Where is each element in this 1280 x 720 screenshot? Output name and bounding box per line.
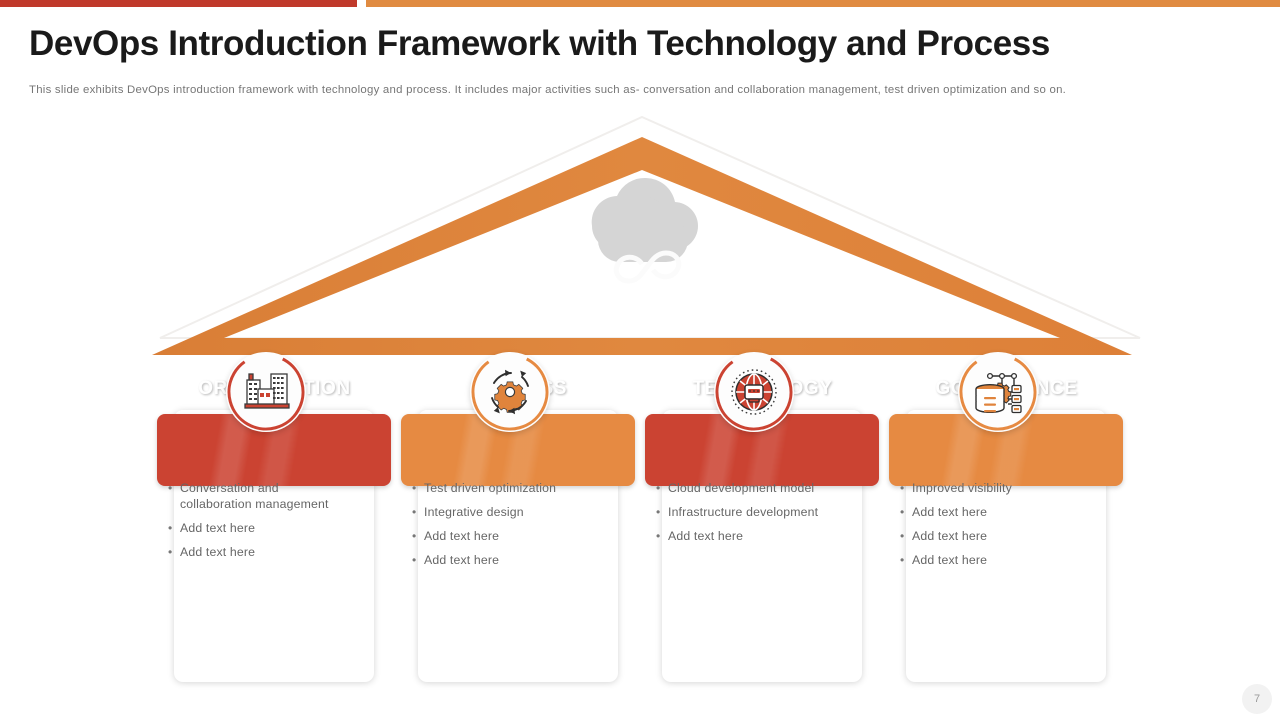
- list-item: Add text here: [900, 552, 1078, 568]
- globe-server-icon: [714, 352, 794, 432]
- page-number-badge: 7: [1242, 684, 1272, 714]
- card-process[interactable]: PROCESS: [396, 352, 641, 688]
- database-workflow-icon: [958, 352, 1038, 432]
- list-item: Integrative design: [412, 504, 590, 520]
- top-accent-bar-left: [0, 0, 357, 7]
- roof-triangle: [150, 110, 1150, 360]
- cloud-infinity-icon: [592, 178, 698, 281]
- list-item: Add text here: [168, 544, 346, 560]
- list-item: Infrastructure development: [656, 504, 834, 520]
- card-icon-badge: [714, 352, 794, 432]
- card-bullet-list: Cloud development model Infrastructure d…: [656, 480, 834, 552]
- list-item: Add text here: [656, 528, 834, 544]
- buildings-icon: [226, 352, 306, 432]
- list-item: Conversation and collaboration managemen…: [168, 480, 346, 512]
- top-accent-bar-right: [366, 0, 1280, 7]
- card-icon-badge: [470, 352, 550, 432]
- page-subtitle: This slide exhibits DevOps introduction …: [29, 84, 1066, 96]
- list-item: Cloud development model: [656, 480, 834, 496]
- list-item: Add text here: [412, 528, 590, 544]
- card-governance[interactable]: GOVERNANCE: [884, 352, 1129, 688]
- card-icon-badge: [226, 352, 306, 432]
- list-item: Add text here: [168, 520, 346, 536]
- card-bullet-list: Improved visibility Add text here Add te…: [900, 480, 1078, 576]
- card-bullet-list: Conversation and collaboration managemen…: [168, 480, 346, 568]
- card-organization[interactable]: ORGANIZATION: [152, 352, 397, 688]
- list-item: Add text here: [900, 528, 1078, 544]
- card-technology[interactable]: TECHNOLOGY: [640, 352, 885, 688]
- card-icon-badge: [958, 352, 1038, 432]
- list-item: Improved visibility: [900, 480, 1078, 496]
- list-item: Test driven optimization: [412, 480, 590, 496]
- gear-cycle-icon: [470, 352, 550, 432]
- list-item: Add text here: [412, 552, 590, 568]
- pillar-cards-row: ORGANIZATION: [0, 352, 1280, 692]
- list-item: Add text here: [900, 504, 1078, 520]
- page-title: DevOps Introduction Framework with Techn…: [29, 24, 1050, 64]
- card-bullet-list: Test driven optimization Integrative des…: [412, 480, 590, 576]
